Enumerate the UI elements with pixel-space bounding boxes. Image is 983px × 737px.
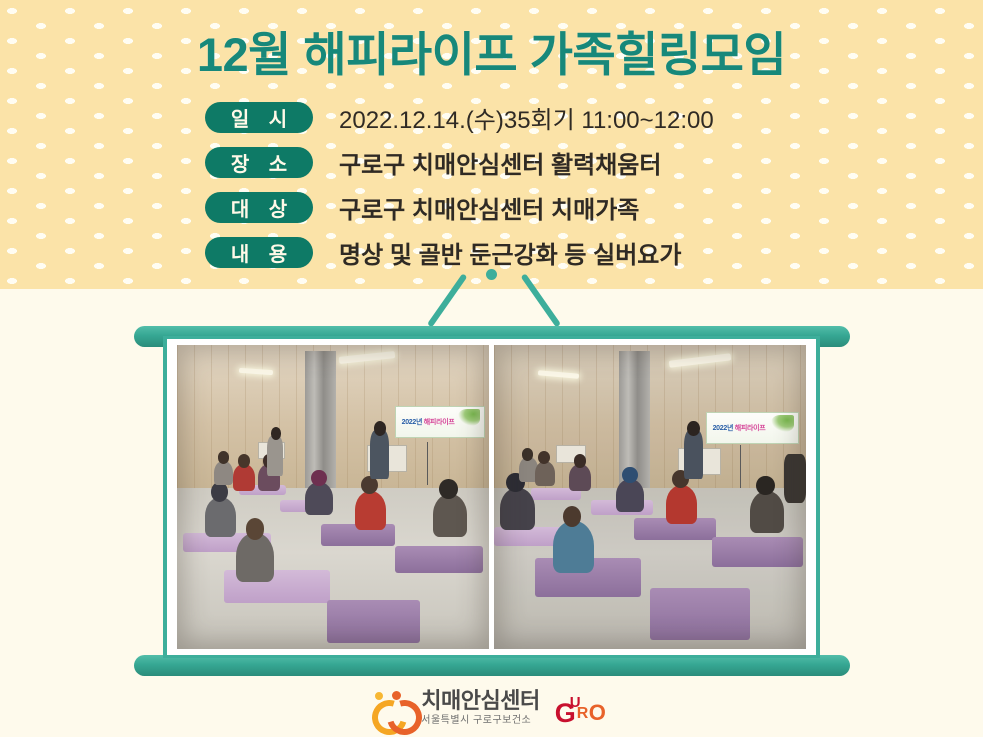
photo-participant bbox=[553, 521, 594, 573]
brand-subtitle: 서울특별시 구로구보건소 bbox=[421, 716, 539, 726]
banner-leaf-graphic bbox=[458, 409, 481, 427]
mark-dot-left bbox=[375, 692, 383, 700]
photo-participant-head bbox=[246, 518, 265, 539]
photo-tripod bbox=[740, 445, 741, 488]
photo-participant bbox=[433, 494, 467, 537]
footer-logos: 치매안심센터 서울특별시 구로구보건소 G U R O bbox=[0, 690, 983, 726]
mark-dot-right bbox=[392, 691, 401, 700]
photo-participant bbox=[214, 461, 233, 485]
photo-participant-head bbox=[311, 470, 327, 487]
info-label-content: 내 용 bbox=[205, 237, 313, 268]
info-list: 일 시 2022.12.14.(수)35회기 11:00~12:00 장 소 구… bbox=[205, 95, 714, 275]
photo-staff bbox=[267, 436, 283, 476]
photo-right: 2022년 해피라이프 bbox=[494, 345, 806, 649]
info-label-date: 일 시 bbox=[205, 102, 313, 133]
photo-participant-head bbox=[574, 454, 586, 468]
photo-participant bbox=[535, 461, 555, 487]
photo-event-banner: 2022년 해피라이프 bbox=[395, 406, 484, 438]
photo-participant-head bbox=[538, 451, 550, 464]
photo-mat bbox=[395, 546, 482, 573]
info-value-date: 2022.12.14.(수)35회기 11:00~12:00 bbox=[339, 100, 714, 135]
photo-left: 2022년 해피라이프 bbox=[177, 345, 489, 649]
photo-participant-head bbox=[439, 479, 458, 499]
photo-participant bbox=[305, 482, 333, 515]
photo-instructor bbox=[684, 430, 703, 479]
banner-text: 2022년 해피라이프 bbox=[713, 423, 766, 433]
photo-wheelchair-user bbox=[784, 454, 806, 503]
guro-logo-icon: G U R O bbox=[555, 692, 611, 724]
info-value-place: 구로구 치매안심센터 활력채움터 bbox=[339, 145, 661, 180]
page-title: 12월 해피라이프 가족힐링모임 bbox=[0, 16, 983, 85]
guro-letter-r: R bbox=[577, 705, 589, 723]
photo-participant bbox=[236, 533, 273, 582]
photo-mat bbox=[327, 600, 421, 643]
info-label-place: 장 소 bbox=[205, 147, 313, 178]
photo-participant bbox=[616, 479, 644, 512]
info-value-content: 명상 및 골반 둔근강화 등 실버요가 bbox=[339, 235, 681, 270]
photo-staff-head bbox=[271, 427, 282, 440]
photo-instructor-head bbox=[687, 421, 699, 436]
photo-participant bbox=[355, 491, 386, 531]
brand-block: 치매안심센터 서울특별시 구로구보건소 bbox=[421, 690, 539, 726]
photo-participant bbox=[666, 485, 697, 525]
photo-participant-head bbox=[756, 476, 775, 496]
dementia-center-mark-icon bbox=[372, 691, 412, 725]
photo-participant bbox=[500, 488, 534, 531]
photo-frame: 2022년 해피라이프 bbox=[163, 336, 820, 658]
photo-participant-head bbox=[622, 467, 638, 484]
info-value-target: 구로구 치매안심센터 치매가족 bbox=[339, 190, 639, 225]
photo-instructor-head bbox=[374, 421, 386, 436]
photo-participant-head bbox=[522, 448, 533, 460]
banner-rail-bottom bbox=[134, 655, 850, 676]
info-row-content: 내 용 명상 및 골반 둔근강화 등 실버요가 bbox=[205, 230, 714, 275]
photo-participant bbox=[205, 497, 236, 537]
photo-mat bbox=[712, 537, 802, 567]
photo-participant bbox=[750, 491, 784, 534]
info-row-date: 일 시 2022.12.14.(수)35회기 11:00~12:00 bbox=[205, 95, 714, 140]
poster-canvas: 12월 해피라이프 가족힐링모임 일 시 2022.12.14.(수)35회기 … bbox=[0, 0, 983, 737]
photo-mat bbox=[650, 588, 750, 640]
guro-letter-o: O bbox=[589, 700, 606, 726]
info-row-target: 대 상 구로구 치매안심센터 치매가족 bbox=[205, 185, 714, 230]
brand-name: 치매안심센터 bbox=[421, 690, 539, 712]
photo-instructor bbox=[370, 430, 389, 479]
banner-leaf-graphic bbox=[771, 415, 795, 433]
banner-text: 2022년 해피라이프 bbox=[402, 417, 455, 427]
photo-event-banner: 2022년 해피라이프 bbox=[706, 412, 798, 444]
photo-tripod bbox=[427, 442, 428, 485]
photo-participant-head bbox=[218, 451, 229, 463]
info-row-place: 장 소 구로구 치매안심센터 활력채움터 bbox=[205, 140, 714, 185]
info-label-target: 대 상 bbox=[205, 192, 313, 223]
banner-hook-knob bbox=[486, 269, 497, 280]
